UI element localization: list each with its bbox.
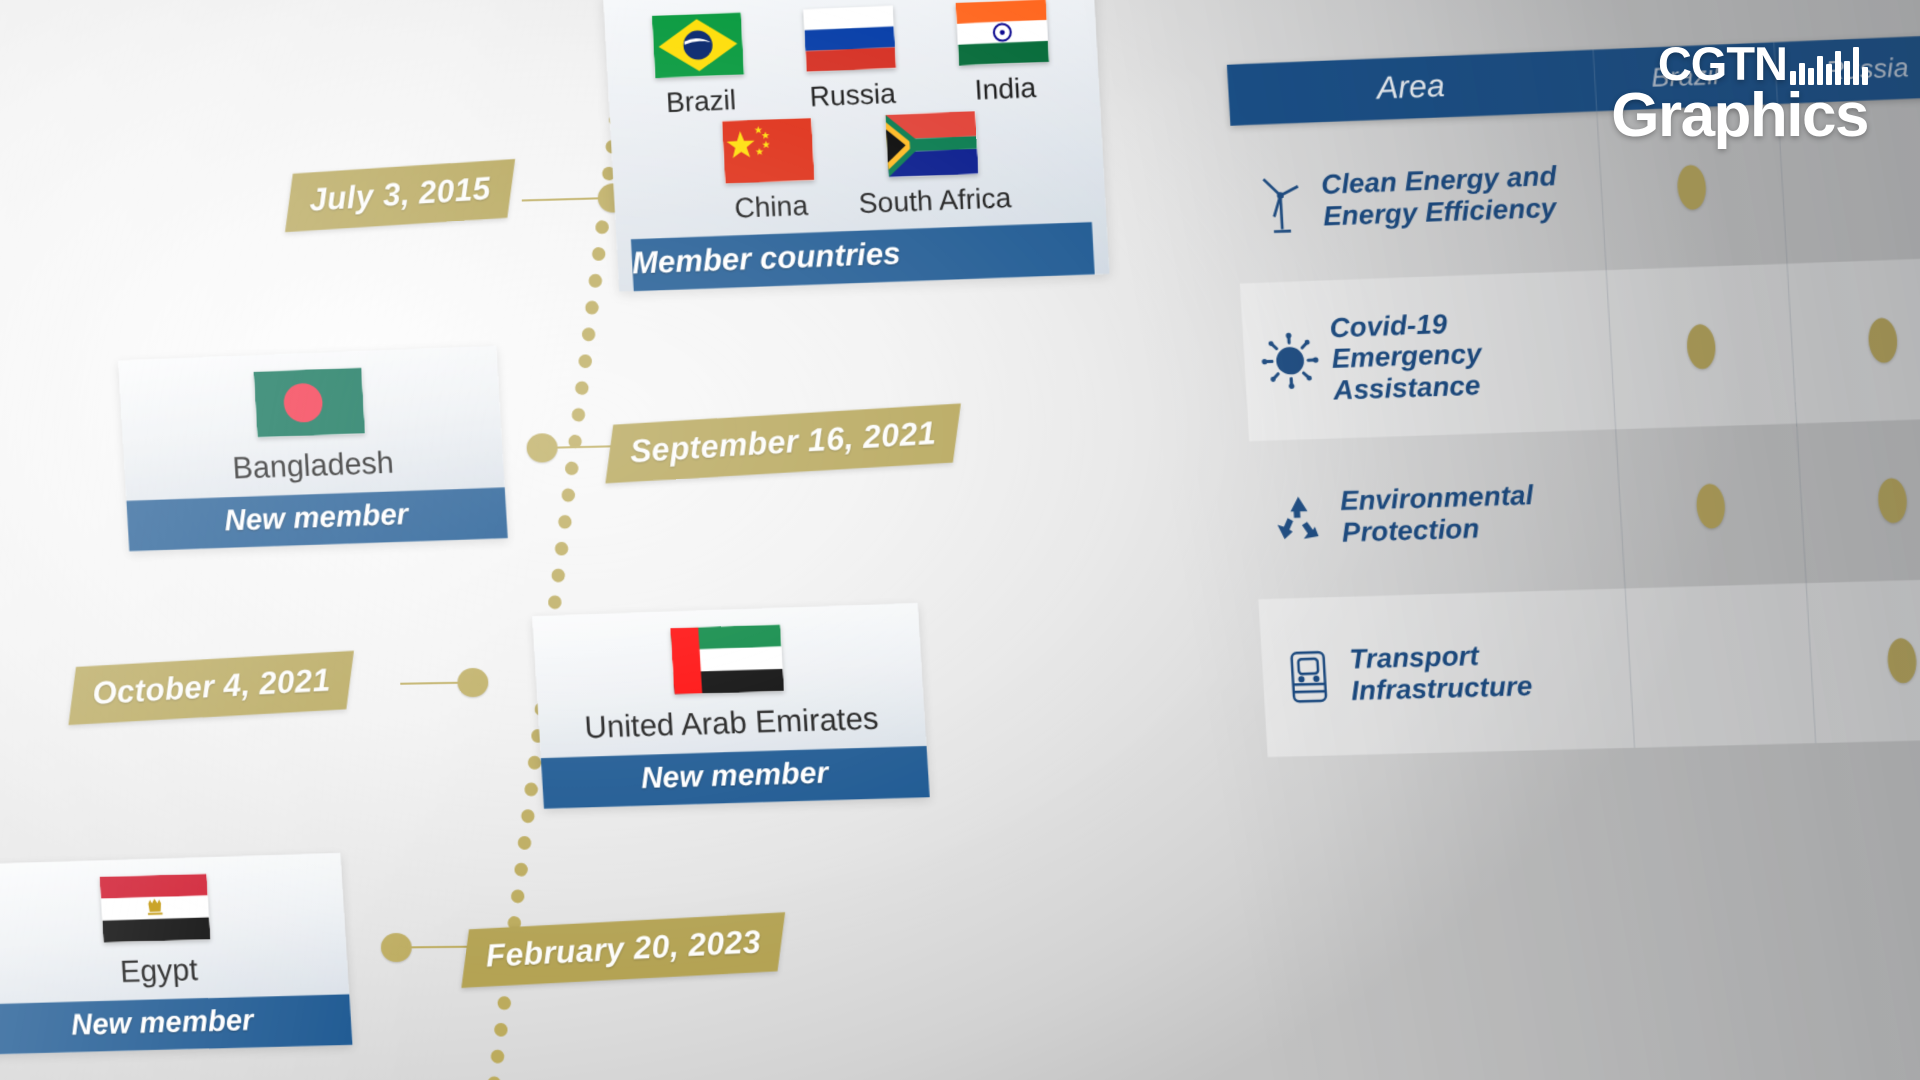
timeline-dot bbox=[497, 996, 512, 1011]
matrix-marker bbox=[1676, 164, 1707, 210]
timeline-dot bbox=[514, 862, 529, 877]
matrix-row-environmental-label: Environmental Protection bbox=[1249, 429, 1625, 599]
date-chip-oct-2021: October 4, 2021 bbox=[68, 651, 354, 725]
flag-uae-icon bbox=[670, 624, 784, 694]
timeline-connector-2 bbox=[553, 445, 617, 449]
matrix-row-covid19-line2: Emergency Assistance bbox=[1331, 338, 1483, 406]
matrix-cell-transport-russia bbox=[1806, 578, 1920, 743]
member-countries-banner: Member countries bbox=[631, 222, 1095, 291]
recycle-icon bbox=[1269, 485, 1330, 552]
new-member-uae-banner: New member bbox=[541, 746, 930, 809]
timeline-dot bbox=[551, 568, 566, 583]
matrix-cell-covid19-brazil bbox=[1606, 264, 1796, 430]
member-flag-grid: Brazil Russia bbox=[619, 0, 1091, 229]
timeline-dot bbox=[595, 220, 610, 235]
matrix-cell-covid19-russia bbox=[1787, 257, 1920, 423]
timeline-dot bbox=[517, 835, 532, 850]
timeline-dot bbox=[564, 461, 579, 476]
member-country-south-africa-label: South Africa bbox=[856, 182, 1015, 220]
matrix-marker bbox=[1867, 318, 1898, 364]
bar-chart-icon bbox=[1790, 45, 1868, 85]
wind-turbine-icon bbox=[1250, 169, 1311, 236]
matrix-row-transport-label: Transport Infrastructure bbox=[1258, 589, 1634, 758]
matrix-row-transport-line1: Transport bbox=[1348, 640, 1479, 675]
timeline-dot bbox=[591, 247, 606, 262]
matrix-row-environmental-line1: Environmental bbox=[1339, 479, 1534, 517]
matrix-header-area: Area bbox=[1228, 62, 1596, 113]
timeline-dot bbox=[585, 300, 600, 315]
member-country-china-label: China bbox=[704, 189, 839, 226]
timeline-dot bbox=[561, 488, 576, 503]
date-chip-feb-2023-label: February 20, 2023 bbox=[485, 923, 762, 975]
matrix-marker bbox=[1686, 324, 1717, 370]
matrix-row-transport-line2: Infrastructure bbox=[1350, 670, 1533, 707]
timeline-dot bbox=[520, 809, 535, 824]
timeline-dot bbox=[554, 541, 569, 556]
matrix-marker bbox=[1695, 483, 1726, 529]
timeline-connector-3 bbox=[400, 682, 465, 685]
timeline-dot bbox=[490, 1049, 505, 1064]
new-member-card-bangladesh: Bangladesh New member bbox=[118, 346, 508, 551]
new-member-egypt-banner: New member bbox=[0, 994, 352, 1054]
timeline-dot bbox=[578, 354, 593, 369]
matrix-row-clean-energy-label: Clean Energy and Energy Efficiency bbox=[1230, 111, 1605, 283]
timeline-connector-1 bbox=[522, 197, 606, 201]
member-country-india-label: India bbox=[937, 70, 1073, 108]
matrix-row-environmental-line2: Protection bbox=[1341, 512, 1480, 548]
matrix-marker bbox=[1877, 478, 1908, 524]
timeline-dot bbox=[510, 889, 525, 904]
member-country-russia: Russia bbox=[781, 5, 920, 115]
matrix-cell-environmental-brazil bbox=[1615, 423, 1805, 588]
timeline-dot bbox=[557, 514, 572, 529]
date-chip-2015-label: July 3, 2015 bbox=[308, 170, 491, 219]
timeline-dot bbox=[581, 327, 596, 342]
flag-bangladesh-icon bbox=[254, 368, 366, 438]
flag-china-icon bbox=[722, 118, 815, 184]
new-member-card-uae: United Arab Emirates New member bbox=[532, 603, 930, 809]
train-icon bbox=[1278, 643, 1339, 710]
timeline-dot bbox=[524, 782, 539, 797]
timeline-dot bbox=[493, 1022, 508, 1037]
matrix-marker bbox=[1886, 638, 1917, 684]
infographic-stage: July 3, 2015 September 16, 2021 October … bbox=[0, 0, 1920, 1080]
date-chip-sep-2021-label: September 16, 2021 bbox=[629, 414, 937, 470]
matrix-cell-transport-brazil bbox=[1625, 583, 1816, 747]
cgtn-graphics-text: Graphics bbox=[1611, 87, 1868, 144]
date-chip-2015: July 3, 2015 bbox=[285, 159, 515, 232]
flag-russia-icon bbox=[803, 6, 896, 72]
member-country-south-africa: South Africa bbox=[852, 110, 1015, 221]
flag-egypt-icon bbox=[99, 874, 210, 943]
member-country-india: India bbox=[934, 0, 1074, 108]
timeline-dot bbox=[487, 1076, 502, 1080]
matrix-row-covid19-label: Covid-19 Emergency Assistance bbox=[1240, 270, 1615, 441]
date-chip-sep-2021: September 16, 2021 bbox=[605, 403, 960, 483]
new-member-egypt-name: Egypt bbox=[0, 941, 323, 1003]
member-country-china: China bbox=[700, 117, 839, 226]
timeline-dot bbox=[527, 755, 542, 770]
matrix-row-transport: Transport Infrastructure bbox=[1258, 567, 1920, 757]
matrix-cell-environmental-russia bbox=[1796, 418, 1920, 584]
member-country-brazil: Brazil bbox=[630, 11, 768, 120]
timeline-dot bbox=[571, 407, 586, 422]
timeline-dot bbox=[588, 273, 603, 288]
member-countries-panel: Brazil Russia bbox=[603, 0, 1109, 292]
flag-brazil-icon bbox=[652, 12, 744, 78]
timeline-connector-4 bbox=[408, 946, 471, 949]
virus-icon bbox=[1260, 327, 1321, 394]
flag-india-icon bbox=[955, 0, 1049, 66]
timeline-dot bbox=[574, 380, 589, 395]
cgtn-logo: CGTN Graphics bbox=[1611, 42, 1868, 144]
member-country-brazil-label: Brazil bbox=[634, 83, 768, 121]
new-member-card-egypt: Egypt New member bbox=[0, 853, 352, 1055]
member-country-russia-label: Russia bbox=[785, 77, 920, 115]
matrix-row-covid19-line1: Covid-19 bbox=[1329, 307, 1448, 343]
date-chip-oct-2021-label: October 4, 2021 bbox=[91, 662, 331, 713]
flag-south-africa-icon bbox=[885, 111, 978, 177]
timeline-dot bbox=[547, 595, 562, 610]
cgtn-logo-text: CGTN bbox=[1658, 42, 1787, 85]
